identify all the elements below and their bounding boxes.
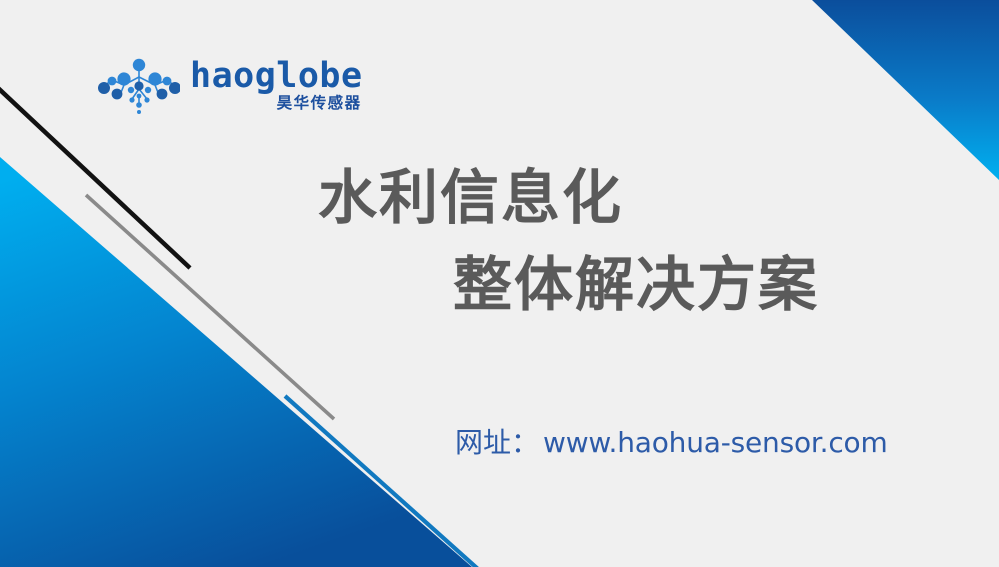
company-logo: haoglobe 昊华传感器 <box>98 55 363 117</box>
slide-title: 水利信息化 整体解决方案 <box>318 168 918 314</box>
logo-wordmark: haoglobe <box>190 60 363 93</box>
title-line-2: 整体解决方案 <box>453 255 918 314</box>
title-line-1: 水利信息化 <box>318 168 918 227</box>
logo-text-group: haoglobe 昊华传感器 <box>190 60 363 112</box>
logo-subtitle: 昊华传感器 <box>277 96 362 112</box>
haoglobe-network-icon <box>98 55 180 117</box>
website-line: 网址： www.haohua-sensor.com <box>455 421 888 461</box>
website-url[interactable]: www.haohua-sensor.com <box>543 426 888 459</box>
website-label: 网址： <box>455 421 539 461</box>
presentation-slide: haoglobe 昊华传感器 水利信息化 整体解决方案 网址： www.haoh… <box>0 0 999 567</box>
diagonal-line-gray <box>86 195 334 419</box>
top-right-corner-triangle <box>812 0 999 180</box>
diagonal-line-blue <box>285 396 478 567</box>
